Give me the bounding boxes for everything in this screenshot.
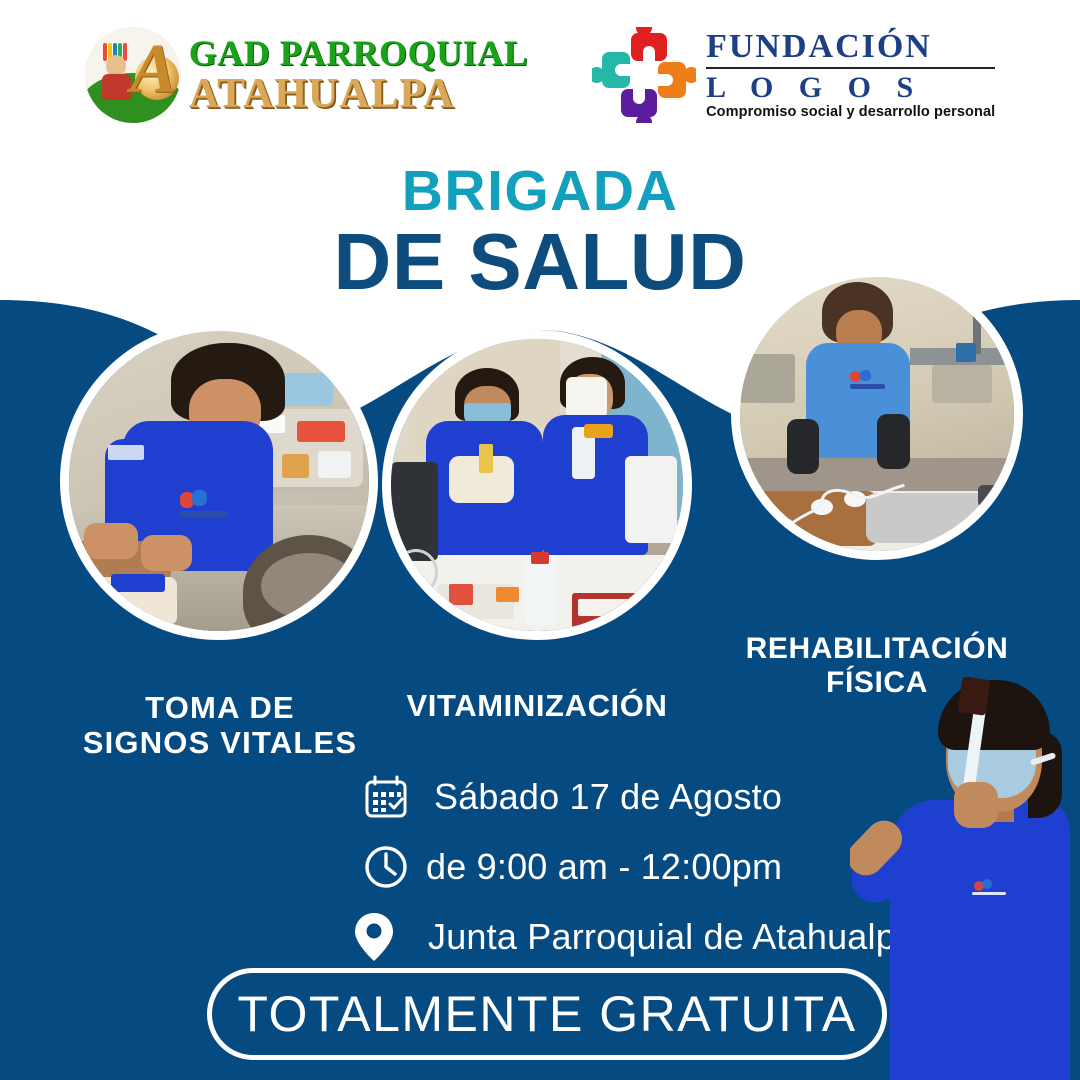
gad-parroquial-logo: A GAD PARROQUIAL ATAHUALPA (85, 27, 528, 123)
health-brigade-poster: A GAD PARROQUIAL ATAHUALPA (0, 0, 1080, 1080)
photo-vitaminizacion (382, 330, 692, 640)
gad-logo-line1: GAD PARROQUIAL (189, 35, 528, 71)
service-label-line1: VITAMINIZACIÓN (372, 688, 702, 723)
photo-toma-signos-vitales (60, 322, 378, 640)
fundacion-logos-logo: FUNDACIÓN L O G O S Compromiso social y … (592, 27, 995, 123)
clock-icon (360, 841, 412, 893)
service-label-line2: SIGNOS VITALES (40, 725, 400, 760)
nurse-uniform-logo-icon (968, 878, 1010, 900)
photo-rehabilitacion-fisica (731, 268, 1023, 560)
title-line-de-salud: DE SALUD (0, 222, 1080, 302)
nurse-cutout-photo (850, 660, 1080, 1080)
calendar-icon (360, 771, 412, 823)
free-badge-label: TOTALMENTE GRATUITA (237, 985, 856, 1043)
service-label-vitaminizacion: VITAMINIZACIÓN (372, 688, 702, 723)
logos-name: L O G O S (706, 73, 995, 103)
logo-divider (706, 67, 995, 69)
detail-time-text: de 9:00 am - 12:00pm (426, 846, 782, 888)
detail-location-text: Junta Parroquial de Atahualpa (428, 916, 916, 958)
logo-header: A GAD PARROQUIAL ATAHUALPA (0, 0, 1080, 150)
detail-date-text: Sábado 17 de Agosto (434, 776, 782, 818)
gad-atahualpa-crest-icon: A (85, 27, 181, 123)
poster-title: BRIGADA DE SALUD (0, 163, 1080, 302)
fundacion-name: FUNDACIÓN (706, 30, 995, 64)
location-pin-icon (348, 911, 400, 963)
free-badge: TOTALMENTE GRATUITA (207, 968, 887, 1060)
gad-logo-line2: ATAHUALPA (189, 73, 528, 115)
fundacion-logos-people-puzzle-icon (592, 27, 696, 123)
title-line-brigada: BRIGADA (0, 163, 1080, 220)
service-label-toma-signos-vitales: TOMA DE SIGNOS VITALES (40, 690, 400, 761)
service-label-line1: TOMA DE (40, 690, 400, 725)
logos-tagline: Compromiso social y desarrollo personal (706, 105, 995, 120)
